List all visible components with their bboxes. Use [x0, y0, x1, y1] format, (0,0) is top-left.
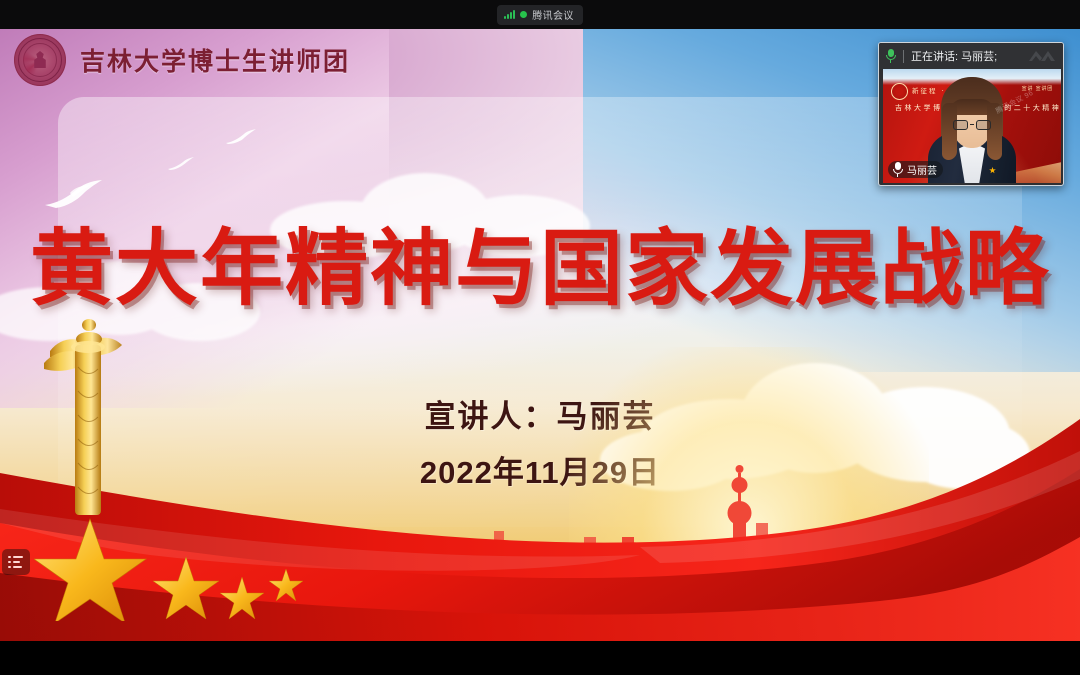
- gold-star-icon: [153, 557, 219, 619]
- meeting-status-pill[interactable]: 腾讯会议: [497, 5, 583, 25]
- meeting-status-bar: 腾讯会议: [0, 0, 1080, 29]
- jilin-university-seal-icon: [14, 34, 66, 86]
- huabiao-column-icon: [42, 317, 132, 523]
- screen-root: 腾讯会议: [0, 0, 1080, 675]
- slide-main-title: 黄大年精神与国家发展战略: [0, 225, 1080, 313]
- list-menu-icon[interactable]: [2, 549, 30, 575]
- dove-silhouette-icon: [44, 179, 108, 209]
- slide-header-title: 吉林大学博士生讲师团: [80, 42, 350, 78]
- video-feed: 新征程 · 青年 吉林大学博士生讲师团 党的二十大精神 宣讲 宣讲团 腾讯会议 …: [883, 69, 1061, 183]
- gold-star-icon: [269, 569, 303, 601]
- party-seal-icon: [891, 83, 908, 100]
- signal-bars-icon: [504, 10, 515, 19]
- meeting-app-label: 腾讯会议: [532, 7, 574, 22]
- tencent-meeting-logo-icon: [1027, 49, 1057, 64]
- microphone-icon: [885, 49, 896, 64]
- dove-silhouette-icon: [168, 157, 194, 171]
- speaker-video-window[interactable]: 正在讲话: 马丽芸; 新征程 · 青年 吉林大学博士生讲师团 党的二十大精神 宣…: [878, 42, 1064, 186]
- dove-silhouette-icon: [226, 129, 256, 145]
- microphone-icon: [892, 162, 903, 177]
- gold-star-icon: [34, 519, 146, 621]
- bottom-letterbox: [0, 641, 1080, 675]
- active-speaker-label: 正在讲话: 马丽芸;: [911, 48, 997, 64]
- participant-name: 马丽芸: [907, 162, 937, 177]
- green-status-dot: [520, 11, 527, 18]
- titlebar-divider: [903, 50, 904, 63]
- gold-star-group: [34, 511, 314, 621]
- video-window-titlebar[interactable]: 正在讲话: 马丽芸;: [879, 43, 1063, 69]
- slide-scenery: [0, 311, 1080, 641]
- participant-name-badge: 马丽芸: [888, 161, 943, 178]
- gold-star-icon: [220, 577, 264, 619]
